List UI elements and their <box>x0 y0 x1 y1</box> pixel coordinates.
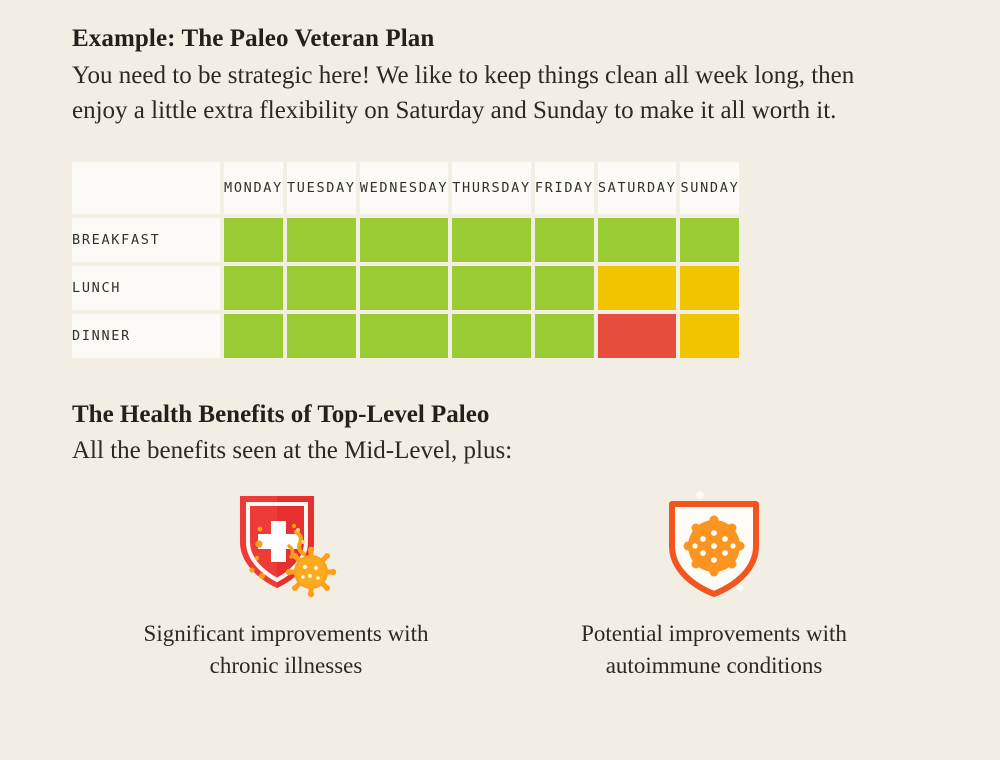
cell-breakfast-saturday <box>598 218 677 262</box>
shield-cross-germ-icon <box>226 488 346 600</box>
table-row-breakfast: BREAKFAST <box>72 218 739 262</box>
day-header-sunday: SUNDAY <box>680 162 739 214</box>
day-header-tuesday: TUESDAY <box>287 162 356 214</box>
cell-lunch-friday <box>535 266 594 310</box>
weekly-meal-schedule-table: MONDAY TUESDAY WEDNESDAY THURSDAY FRIDAY… <box>68 158 743 362</box>
schedule-header-row: MONDAY TUESDAY WEDNESDAY THURSDAY FRIDAY… <box>72 162 739 214</box>
intro-body: You need to be strategic here! We like t… <box>72 58 902 128</box>
cell-lunch-monday <box>224 266 283 310</box>
intro-title: Example: The Paleo Veteran Plan <box>72 22 928 56</box>
cell-breakfast-thursday <box>452 218 531 262</box>
cell-breakfast-sunday <box>680 218 739 262</box>
cell-dinner-thursday <box>452 314 531 358</box>
benefits-section: The Health Benefits of Top-Level Paleo A… <box>72 398 928 682</box>
cell-dinner-wednesday <box>360 314 448 358</box>
germ-glyph <box>286 547 336 597</box>
virus-glyph <box>688 520 740 572</box>
schedule-head: MONDAY TUESDAY WEDNESDAY THURSDAY FRIDAY… <box>72 162 739 214</box>
page-root: Example: The Paleo Veteran Plan You need… <box>0 0 1000 760</box>
cell-lunch-thursday <box>452 266 531 310</box>
meal-label-lunch: LUNCH <box>72 266 220 310</box>
meal-label-breakfast: BREAKFAST <box>72 218 220 262</box>
schedule-body: BREAKFAST LUNCH <box>72 218 739 358</box>
benefits-subtitle: All the benefits seen at the Mid-Level, … <box>72 434 928 468</box>
schedule-section: MONDAY TUESDAY WEDNESDAY THURSDAY FRIDAY… <box>72 158 928 362</box>
day-header-saturday: SATURDAY <box>598 162 677 214</box>
benefit-card-chronic-illnesses: Significant improvements with chronic il… <box>72 488 500 682</box>
table-row-dinner: DINNER <box>72 314 739 358</box>
day-header-thursday: THURSDAY <box>452 162 531 214</box>
cell-dinner-sunday <box>680 314 739 358</box>
cell-dinner-friday <box>535 314 594 358</box>
cell-breakfast-tuesday <box>287 218 356 262</box>
benefit-caption-chronic-illnesses: Significant improvements with chronic il… <box>121 618 451 682</box>
cell-lunch-wednesday <box>360 266 448 310</box>
cell-dinner-monday <box>224 314 283 358</box>
day-header-monday: MONDAY <box>224 162 283 214</box>
cell-breakfast-monday <box>224 218 283 262</box>
day-header-friday: FRIDAY <box>535 162 594 214</box>
schedule-corner-cell <box>72 162 220 214</box>
cell-lunch-saturday <box>598 266 677 310</box>
cell-breakfast-wednesday <box>360 218 448 262</box>
cell-dinner-saturday <box>598 314 677 358</box>
shield-virus-outline-icon <box>654 488 774 600</box>
cell-lunch-tuesday <box>287 266 356 310</box>
benefit-card-autoimmune-conditions: Potential improvements with autoimmune c… <box>500 488 928 682</box>
intro-section: Example: The Paleo Veteran Plan You need… <box>72 0 928 128</box>
benefits-title: The Health Benefits of Top-Level Paleo <box>72 398 928 432</box>
day-header-wednesday: WEDNESDAY <box>360 162 448 214</box>
cell-lunch-sunday <box>680 266 739 310</box>
cell-dinner-tuesday <box>287 314 356 358</box>
benefit-caption-autoimmune-conditions: Potential improvements with autoimmune c… <box>549 618 879 682</box>
cell-breakfast-friday <box>535 218 594 262</box>
meal-label-dinner: DINNER <box>72 314 220 358</box>
table-row-lunch: LUNCH <box>72 266 739 310</box>
benefit-cards: Significant improvements with chronic il… <box>72 488 928 682</box>
